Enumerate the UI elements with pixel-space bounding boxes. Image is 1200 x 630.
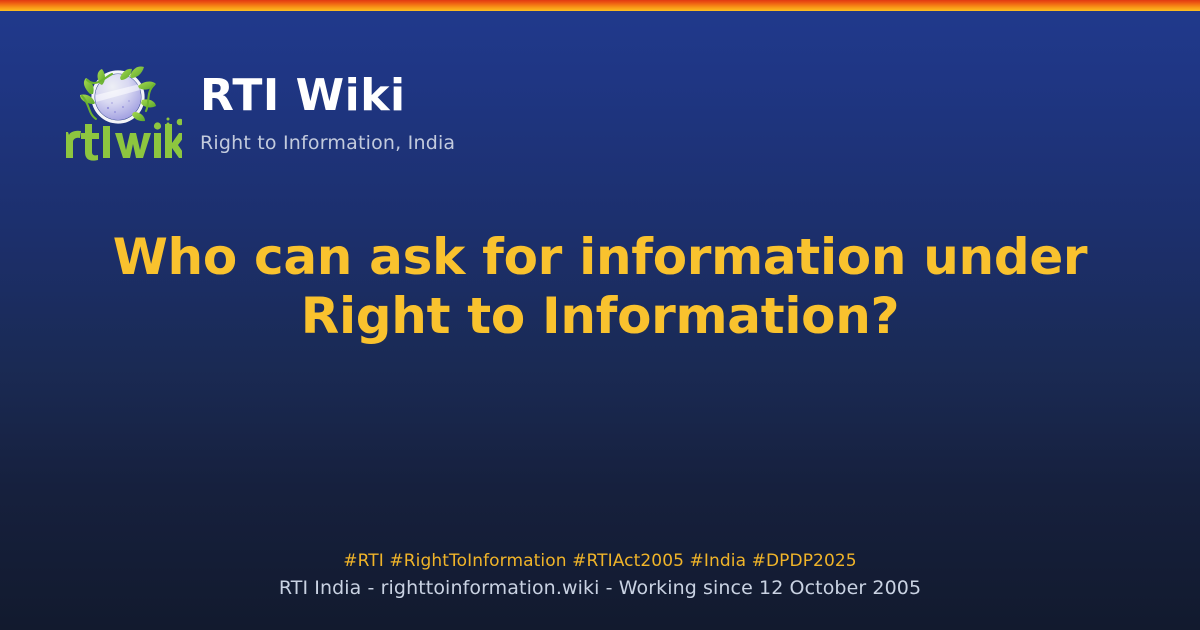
- page-title: RTI Wiki: [200, 74, 455, 118]
- headline-block: Who can ask for information under Right …: [100, 228, 1100, 345]
- brand-header: RTI Wiki Right to Information, India: [60, 62, 455, 164]
- headline: Who can ask for information under Right …: [100, 228, 1100, 345]
- brand-text-block: RTI Wiki Right to Information, India: [200, 62, 455, 154]
- social-card: RTI Wiki Right to Information, India Who…: [0, 0, 1200, 630]
- footer: #RTI #RightToInformation #RTIAct2005 #In…: [0, 550, 1200, 602]
- footer-note: RTI India - righttoinformation.wiki - Wo…: [0, 576, 1200, 602]
- top-accent-bar: [0, 0, 1200, 11]
- rtiwiki-logo-icon: [60, 64, 182, 164]
- headline-line-1: Who can ask for information under: [113, 228, 1088, 286]
- page-subtitle: Right to Information, India: [200, 132, 455, 154]
- hashtag-list: #RTI #RightToInformation #RTIAct2005 #In…: [0, 550, 1200, 573]
- headline-line-2: Right to Information?: [301, 287, 900, 345]
